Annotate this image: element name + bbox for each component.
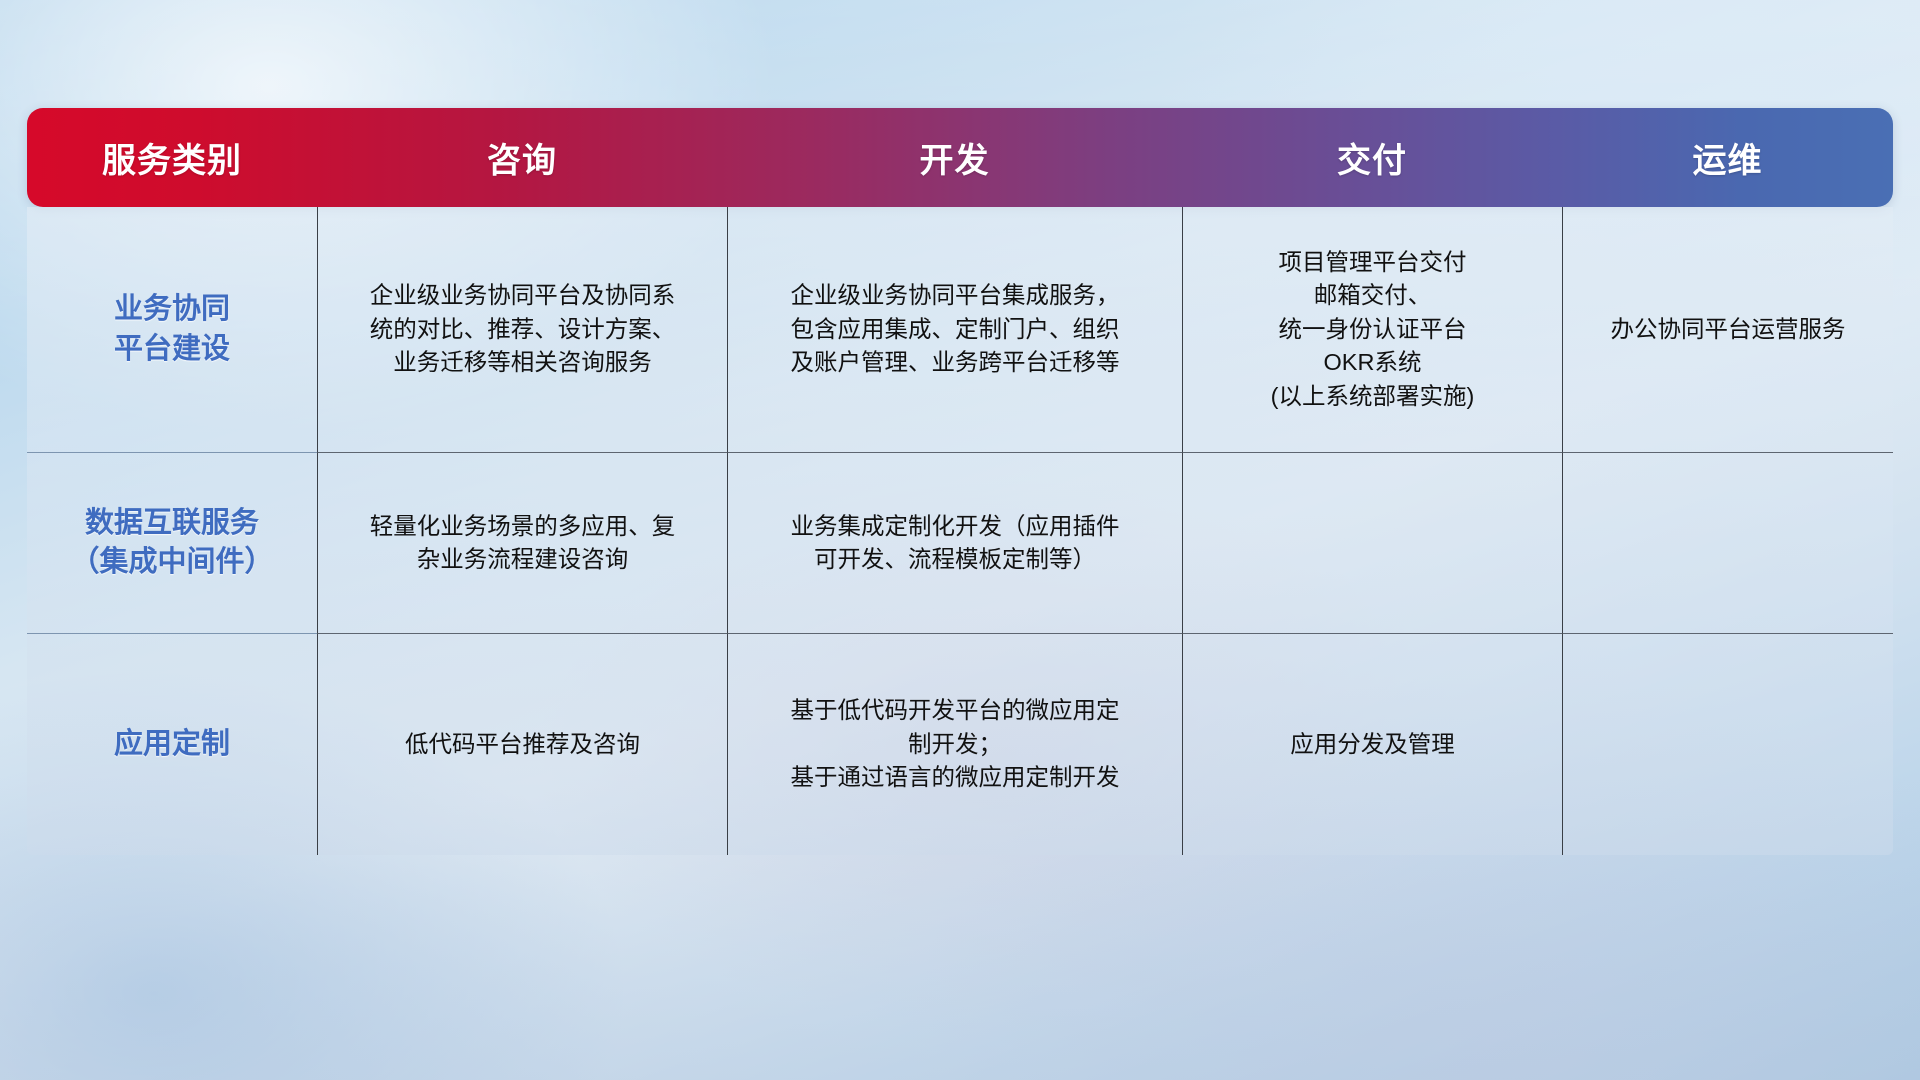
table-row: 业务协同 平台建设 企业级业务协同平台及协同系 统的对比、推荐、设计方案、 业务… xyxy=(27,207,1893,453)
table-body: 业务协同 平台建设 企业级业务协同平台及协同系 统的对比、推荐、设计方案、 业务… xyxy=(27,207,1893,855)
table-cell-operations: 办公协同平台运营服务 xyxy=(1562,207,1893,453)
table-header-row: 服务类别 咨询 开发 交付 运维 xyxy=(27,108,1893,207)
table-header-cell-service-category: 服务类别 xyxy=(27,108,317,207)
table-header-cell-consulting: 咨询 xyxy=(317,108,727,207)
table-cell-operations xyxy=(1562,634,1893,855)
row-category-label: 数据互联服务 （集成中间件） xyxy=(27,453,317,634)
table-cell-consulting: 企业级业务协同平台及协同系 统的对比、推荐、设计方案、 业务迁移等相关咨询服务 xyxy=(317,207,727,453)
header-label: 运维 xyxy=(1693,133,1763,182)
table-cell-consulting: 低代码平台推荐及咨询 xyxy=(317,634,727,855)
table-header-cell-operations: 运维 xyxy=(1562,108,1893,207)
header-label: 交付 xyxy=(1337,133,1407,182)
row-category-label: 业务协同 平台建设 xyxy=(27,207,317,453)
header-label: 开发 xyxy=(920,133,990,182)
table-cell-development: 基于低代码开发平台的微应用定 制开发； 基于通过语言的微应用定制开发 xyxy=(727,634,1182,855)
table-cell-delivery: 项目管理平台交付 邮箱交付、 统一身份认证平台 OKR系统 (以上系统部署实施) xyxy=(1182,207,1562,453)
table-cell-delivery xyxy=(1182,453,1562,634)
table-cell-operations xyxy=(1562,453,1893,634)
table-row: 应用定制 低代码平台推荐及咨询 基于低代码开发平台的微应用定 制开发； 基于通过… xyxy=(27,634,1893,855)
table-row: 数据互联服务 （集成中间件） 轻量化业务场景的多应用、复 杂业务流程建设咨询 业… xyxy=(27,453,1893,634)
table-header-cell-development: 开发 xyxy=(727,108,1182,207)
service-matrix-table: 服务类别 咨询 开发 交付 运维 业务协同 平台建设 企业级业务协同平台及协同系… xyxy=(27,108,1893,855)
header-label: 服务类别 xyxy=(102,133,242,182)
table-cell-consulting: 轻量化业务场景的多应用、复 杂业务流程建设咨询 xyxy=(317,453,727,634)
header-label: 咨询 xyxy=(487,133,557,182)
table-header-cell-delivery: 交付 xyxy=(1182,108,1562,207)
table-cell-delivery: 应用分发及管理 xyxy=(1182,634,1562,855)
table-cell-development: 业务集成定制化开发（应用插件 可开发、流程模板定制等） xyxy=(727,453,1182,634)
row-category-label: 应用定制 xyxy=(27,634,317,855)
table-cell-development: 企业级业务协同平台集成服务， 包含应用集成、定制门户、组织 及账户管理、业务跨平… xyxy=(727,207,1182,453)
